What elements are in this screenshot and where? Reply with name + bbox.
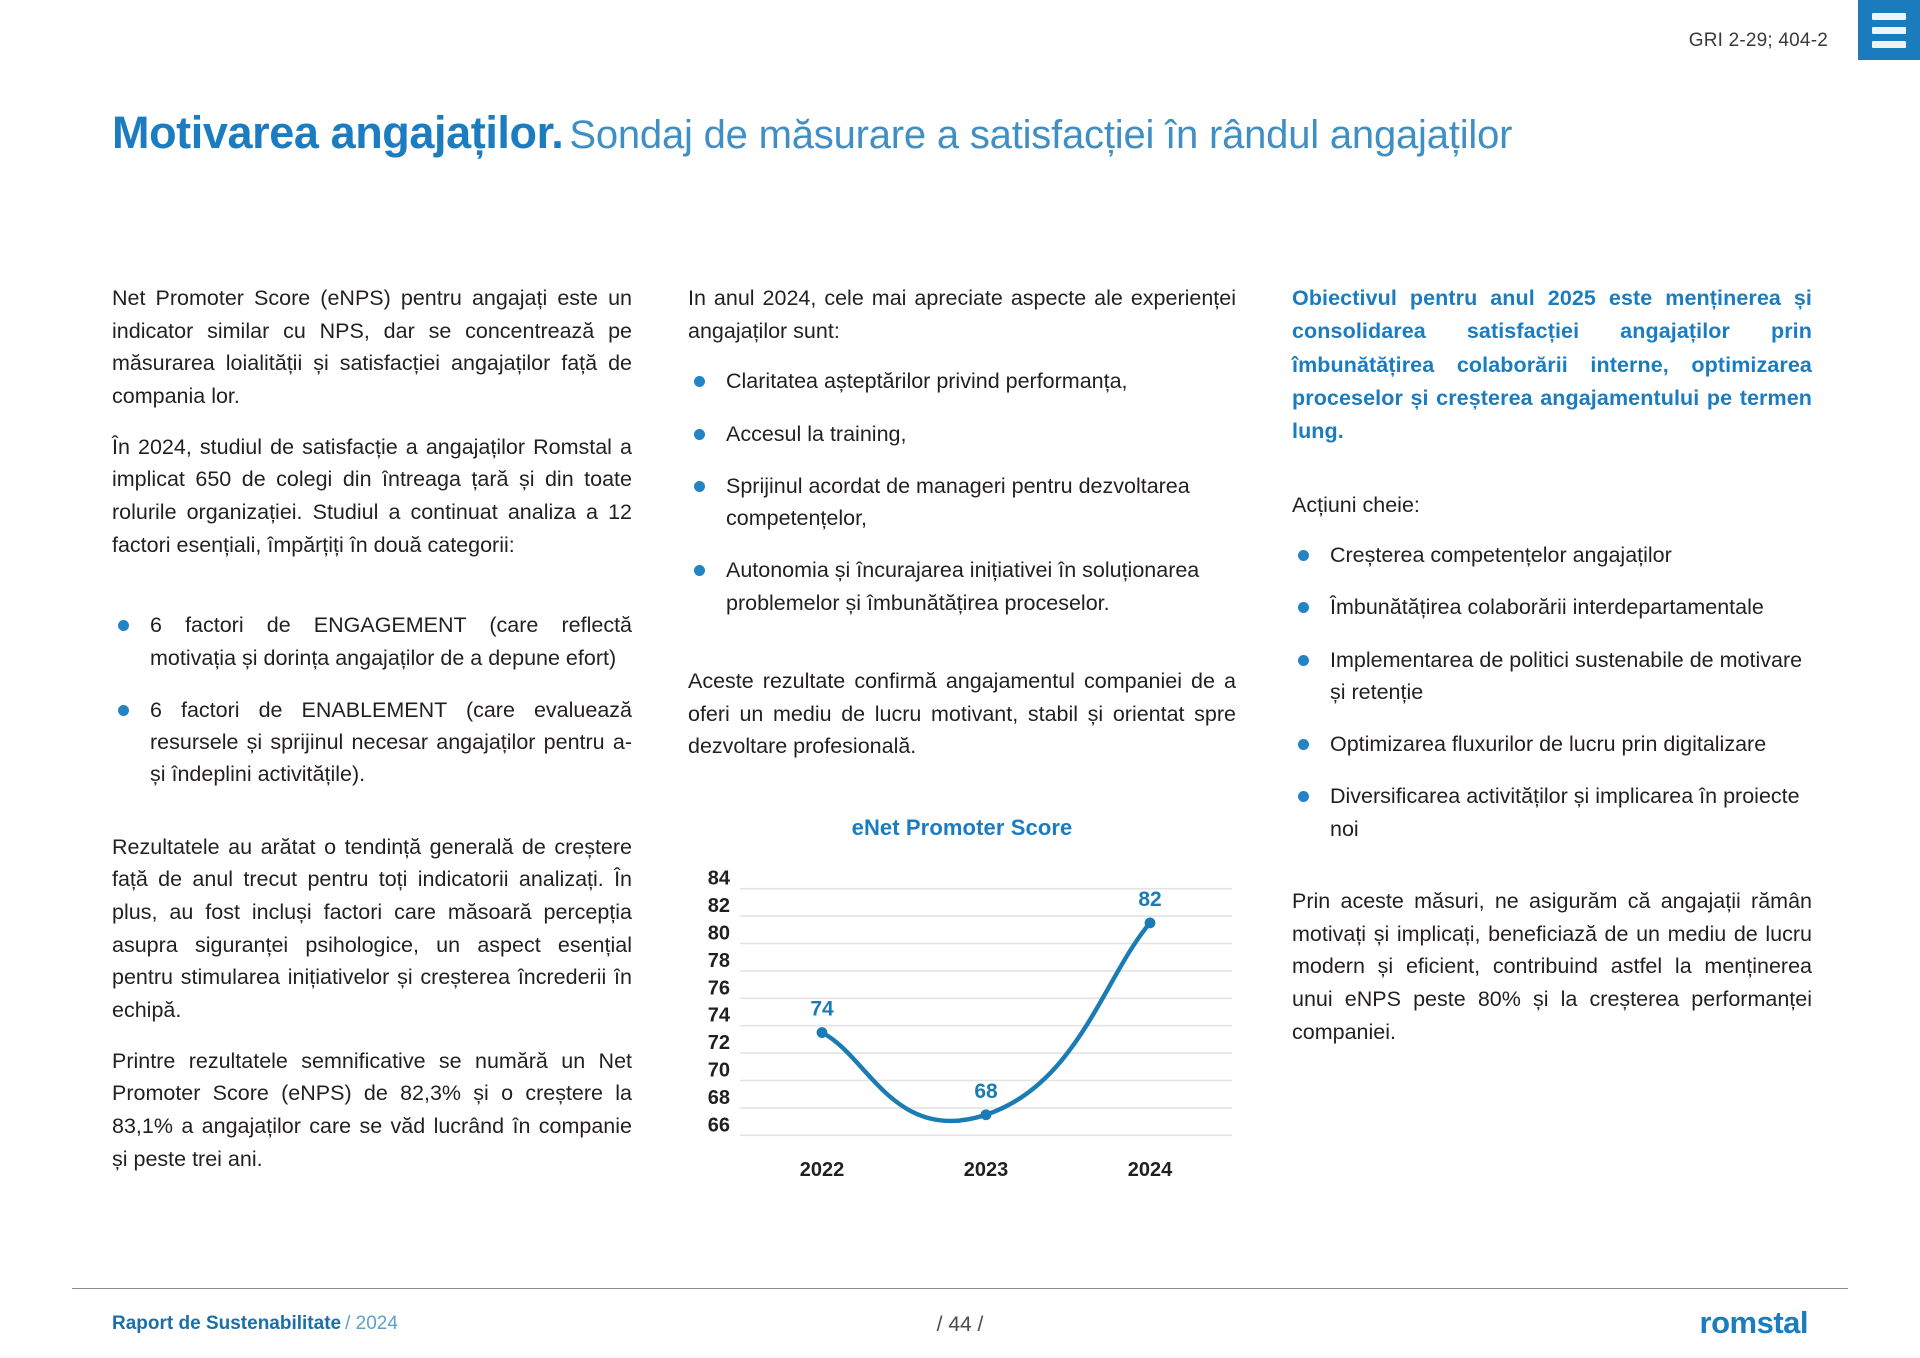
bullet-dot-icon xyxy=(694,429,705,440)
chart-point-label: 82 xyxy=(1138,888,1161,911)
spacer xyxy=(688,619,1236,665)
footer-report-label: Raport de Sustenabilitate/ 2024 xyxy=(112,1313,398,1335)
chart-x-tick-label: 2023 xyxy=(964,1159,1009,1182)
bullet-dot-icon xyxy=(118,705,129,716)
list-item: Claritatea așteptărilor privind performa… xyxy=(688,365,1236,397)
list-item: 6 factori de ENABLEMENT (care evaluează … xyxy=(112,694,632,791)
chart-y-tick-label: 84 xyxy=(708,868,731,890)
hamburger-icon-bar-2 xyxy=(1872,27,1906,34)
spacer xyxy=(112,579,632,609)
left-paragraph-3: Rezultatele au arătat o tendință general… xyxy=(112,831,632,1027)
footer-divider xyxy=(72,1288,1848,1289)
right-column: Obiectivul pentru anul 2025 este menține… xyxy=(1292,282,1812,1189)
list-item: Optimizarea fluxurilor de lucru prin dig… xyxy=(1292,728,1812,760)
middle-bullet-list: Claritatea așteptărilor privind performa… xyxy=(688,365,1236,619)
chart-title: eNet Promoter Score xyxy=(688,815,1236,841)
chart-y-tick-label: 74 xyxy=(708,1005,731,1027)
chart-data-point xyxy=(981,1109,992,1120)
right-closing-paragraph: Prin aceste măsuri, ne asigurăm că angaj… xyxy=(1292,885,1812,1048)
left-bullet-list: 6 factori de ENGAGEMENT (care reflectă m… xyxy=(112,609,632,790)
chart-y-tick-label: 78 xyxy=(708,950,730,972)
footer-report-name: Raport de Sustenabilitate xyxy=(112,1313,341,1334)
bullet-dot-icon xyxy=(694,481,705,492)
list-item: 6 factori de ENGAGEMENT (care reflectă m… xyxy=(112,609,632,674)
chart-y-tick-label: 68 xyxy=(708,1087,730,1109)
right-bullet-list: Creșterea competențelor angajaților Îmbu… xyxy=(1292,539,1812,845)
chart-y-tick-label: 82 xyxy=(708,895,730,917)
list-item-label: Îmbunătățirea colaborării interdepartame… xyxy=(1330,595,1764,619)
list-item: Implementarea de politici sustenabile de… xyxy=(1292,644,1812,709)
list-item: Autonomia și încurajarea inițiativei în … xyxy=(688,554,1236,619)
list-item: Îmbunătățirea colaborării interdepartame… xyxy=(1292,591,1812,623)
chart-data-point xyxy=(817,1027,828,1038)
romstal-logo: romstal xyxy=(1700,1305,1808,1341)
list-item: Creșterea competențelor angajaților xyxy=(1292,539,1812,571)
bullet-dot-icon xyxy=(1298,739,1309,750)
actions-label: Acțiuni cheie: xyxy=(1292,489,1812,522)
content-columns: Net Promoter Score (eNPS) pentru angajaț… xyxy=(112,282,1812,1189)
page-title-subtitle: Sondaj de măsurare a satisfacției în rân… xyxy=(569,113,1512,157)
chart-y-tick-label: 80 xyxy=(708,922,730,944)
list-item-label: Accesul la training, xyxy=(726,422,906,446)
spacer xyxy=(1292,845,1812,885)
list-item: Diversificarea activităților și implicar… xyxy=(1292,780,1812,845)
left-column: Net Promoter Score (eNPS) pentru angajaț… xyxy=(112,282,632,1189)
chart-point-label: 68 xyxy=(974,1080,998,1103)
list-item-label: 6 factori de ENGAGEMENT (care reflectă m… xyxy=(150,613,632,669)
bullet-dot-icon xyxy=(694,376,705,387)
list-item-label: 6 factori de ENABLEMENT (care evaluează … xyxy=(150,698,632,787)
hamburger-icon-bar-1 xyxy=(1872,13,1906,20)
bullet-dot-icon xyxy=(118,620,129,631)
middle-closing-paragraph: Aceste rezultate confirmă angajamentul c… xyxy=(688,665,1236,763)
chart-svg: 66687072747678808284746882 xyxy=(688,867,1236,1159)
bullet-dot-icon xyxy=(694,565,705,576)
list-item: Accesul la training, xyxy=(688,418,1236,450)
footer-report-year: / 2024 xyxy=(345,1313,398,1334)
chart-point-label: 74 xyxy=(810,997,834,1020)
hamburger-menu-button[interactable] xyxy=(1858,0,1920,60)
middle-intro-paragraph: In anul 2024, cele mai apreciate aspecte… xyxy=(688,282,1236,347)
chart-y-tick-label: 72 xyxy=(708,1032,730,1054)
chart-y-tick-label: 70 xyxy=(708,1059,730,1081)
chart-y-tick-label: 76 xyxy=(708,977,730,999)
list-item-label: Sprijinul acordat de manageri pentru dez… xyxy=(726,474,1190,530)
chart-x-axis: 202220232024 xyxy=(740,1159,1236,1189)
left-paragraph-1: Net Promoter Score (eNPS) pentru angajaț… xyxy=(112,282,632,413)
objective-highlight: Obiectivul pentru anul 2025 este menține… xyxy=(1292,282,1812,449)
spacer xyxy=(112,791,632,831)
bullet-dot-icon xyxy=(1298,550,1309,561)
bullet-dot-icon xyxy=(1298,791,1309,802)
chart-data-point xyxy=(1145,917,1156,928)
list-item-label: Autonomia și încurajarea inițiativei în … xyxy=(726,558,1199,614)
chart-x-tick-label: 2022 xyxy=(800,1159,845,1182)
page-title-main: Motivarea angajaților. xyxy=(112,107,563,158)
list-item-label: Optimizarea fluxurilor de lucru prin dig… xyxy=(1330,732,1766,756)
footer-page-number: / 44 / xyxy=(937,1313,984,1337)
left-paragraph-4: Printre rezultatele semnificative se num… xyxy=(112,1045,632,1176)
list-item: Sprijinul acordat de manageri pentru dez… xyxy=(688,470,1236,535)
list-item-label: Claritatea așteptărilor privind performa… xyxy=(726,369,1128,393)
spacer xyxy=(1292,449,1812,489)
list-item-label: Creșterea competențelor angajaților xyxy=(1330,543,1672,567)
gri-code-label: GRI 2-29; 404-2 xyxy=(1689,30,1828,52)
bullet-dot-icon xyxy=(1298,602,1309,613)
left-paragraph-2: În 2024, studiul de satisfacție a angaja… xyxy=(112,431,632,562)
middle-column: In anul 2024, cele mai apreciate aspecte… xyxy=(688,282,1236,1189)
bullet-dot-icon xyxy=(1298,655,1309,666)
hamburger-icon-bar-3 xyxy=(1872,41,1906,48)
chart-x-tick-label: 2024 xyxy=(1128,1159,1173,1182)
enps-chart: eNet Promoter Score 66687072747678808284… xyxy=(688,815,1236,1189)
list-item-label: Implementarea de politici sustenabile de… xyxy=(1330,648,1802,704)
chart-plot-area: 66687072747678808284746882 xyxy=(688,867,1236,1159)
list-item-label: Diversificarea activităților și implicar… xyxy=(1330,784,1800,840)
chart-y-tick-label: 66 xyxy=(708,1114,730,1136)
page-title: Motivarea angajaților.Sondaj de măsurare… xyxy=(112,108,1820,158)
page-footer: Raport de Sustenabilitate/ 2024 / 44 / r… xyxy=(0,1305,1920,1355)
